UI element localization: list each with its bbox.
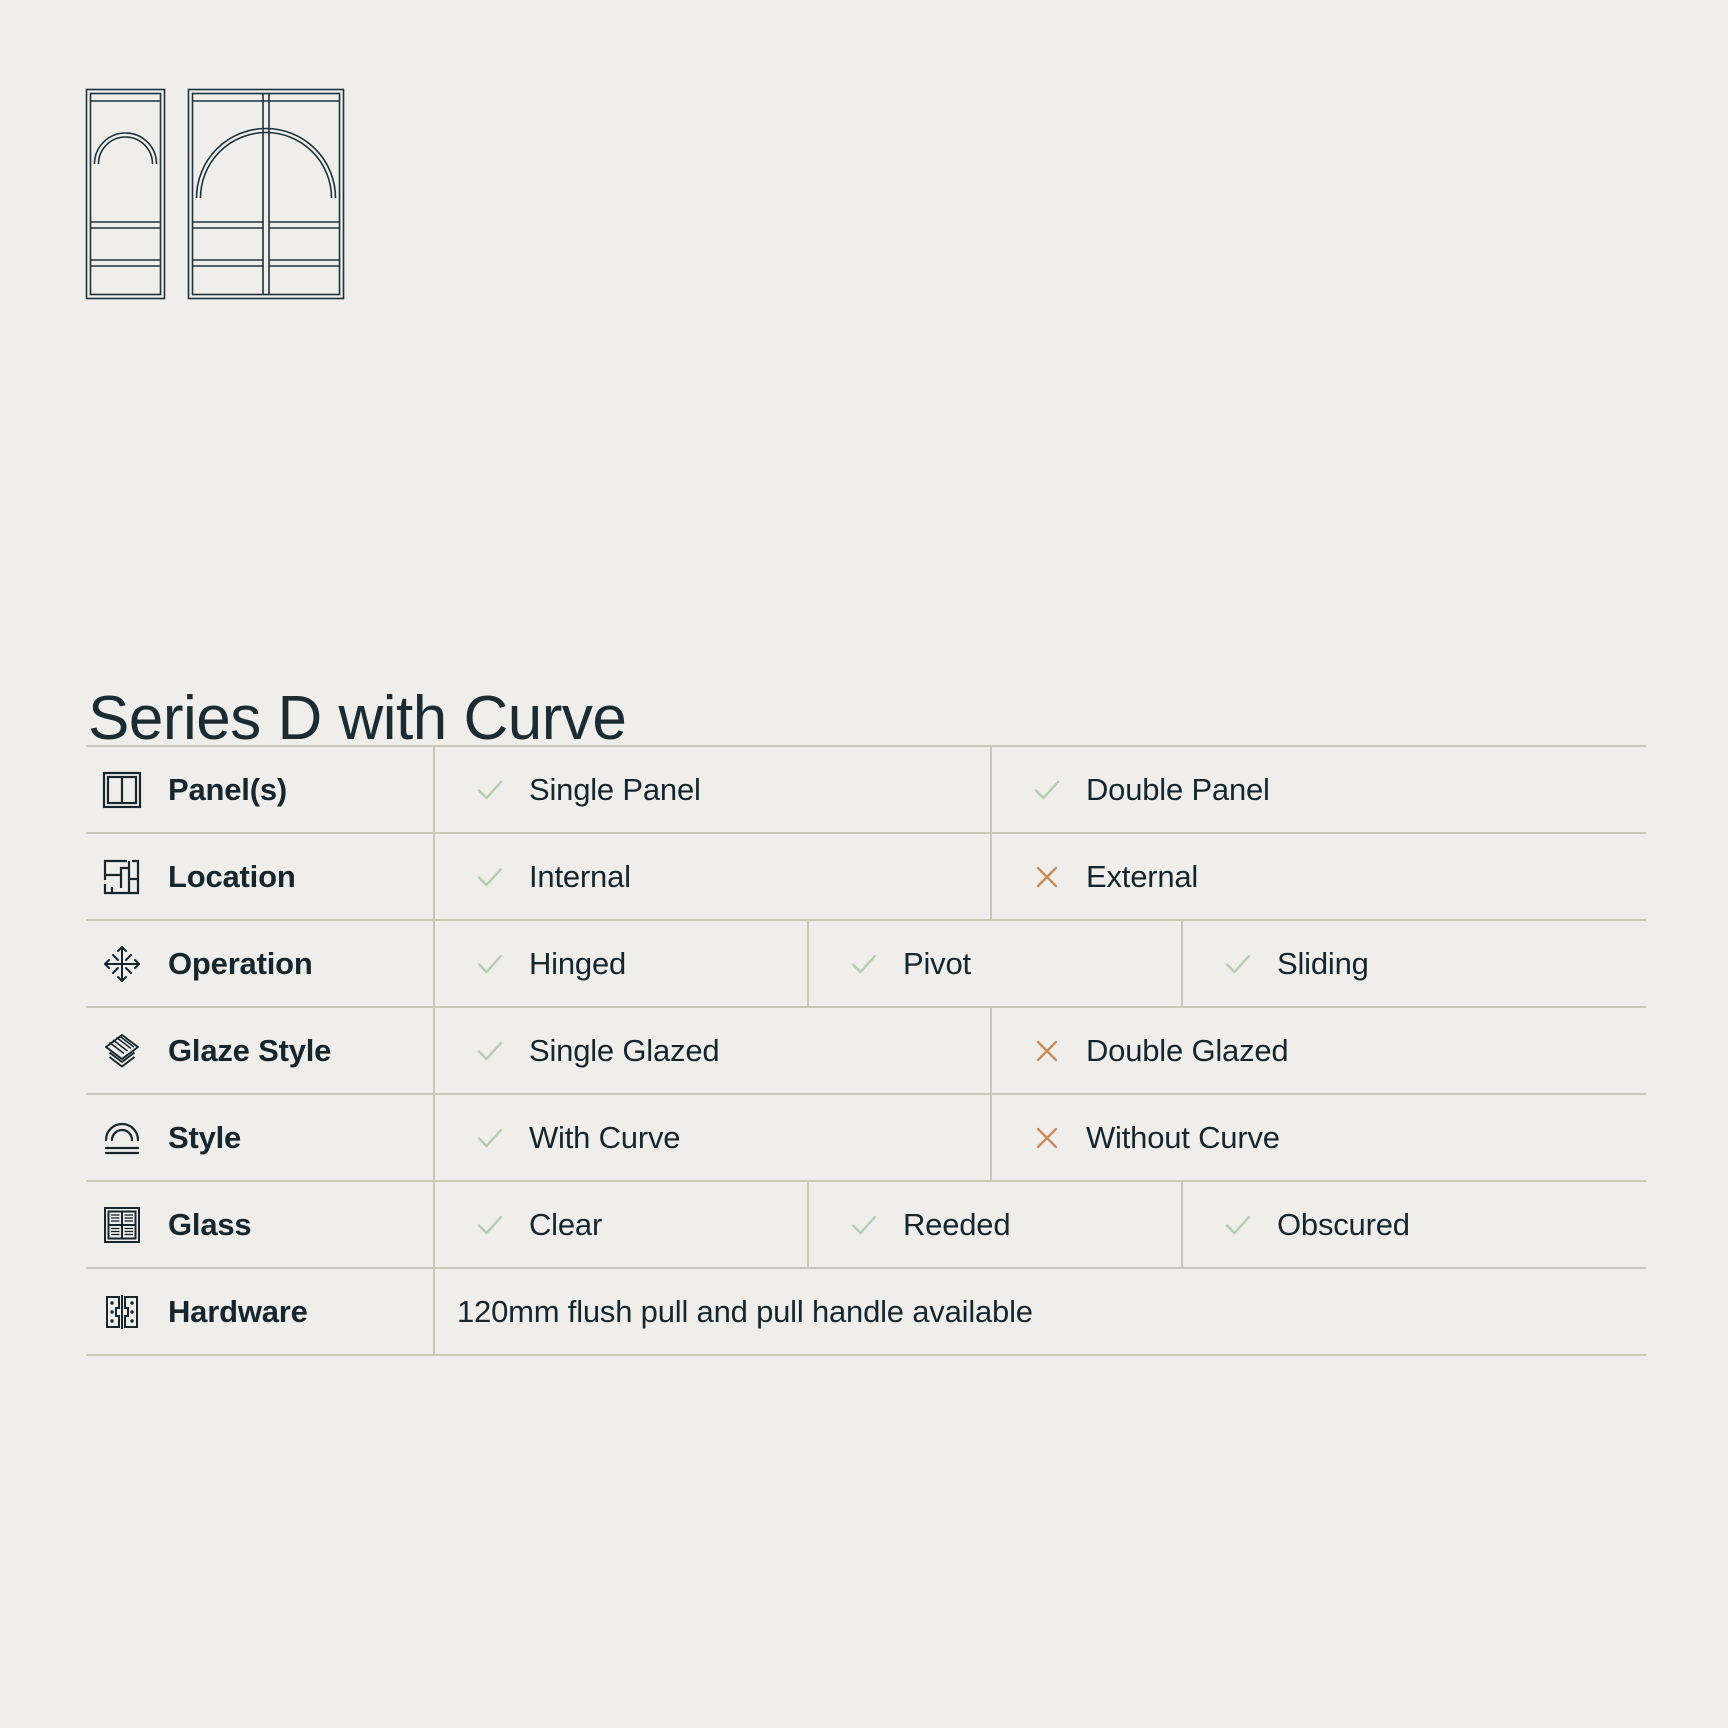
table-row: Glaze Style Single Glazed Double Glazed (86, 1008, 1646, 1095)
check-icon (1221, 1208, 1255, 1242)
option-label: Double Panel (1086, 772, 1270, 808)
option-cell[interactable]: Internal (433, 834, 990, 919)
option-label: Double Glazed (1086, 1033, 1288, 1069)
row-label-cell: Glass (86, 1182, 433, 1267)
cross-icon (1030, 1034, 1064, 1068)
row-label: Style (168, 1120, 241, 1156)
row-label-cell: Glaze Style (86, 1008, 433, 1093)
check-icon (847, 1208, 881, 1242)
option-label: Hinged (529, 946, 626, 982)
row-label: Location (168, 859, 296, 895)
option-label: Sliding (1277, 946, 1369, 982)
check-icon (1030, 773, 1064, 807)
option-cell[interactable]: Clear (433, 1182, 807, 1267)
option-cell[interactable]: Double Panel (990, 747, 1646, 832)
check-icon (473, 860, 507, 894)
option-label: Single Glazed (529, 1033, 719, 1069)
table-row: Style With Curve Without Curve (86, 1095, 1646, 1182)
row-options: Single Glazed Double Glazed (433, 1008, 1646, 1093)
table-row: Operation Hinged Pivot (86, 921, 1646, 1008)
row-label: Operation (168, 946, 313, 982)
option-cell[interactable]: External (990, 834, 1646, 919)
row-options: Clear Reeded Obscured (433, 1182, 1646, 1267)
row-options: Single Panel Double Panel (433, 747, 1646, 832)
option-label: External (1086, 859, 1198, 895)
spec-table: Panel(s) Single Panel Double Panel (86, 745, 1646, 1356)
cross-icon (1030, 1121, 1064, 1155)
option-label: Without Curve (1086, 1120, 1280, 1156)
move-arrows-icon (100, 942, 144, 986)
hardware-note: 120mm flush pull and pull handle availab… (457, 1294, 1033, 1330)
option-cell[interactable]: Sliding (1181, 921, 1646, 1006)
row-options: 120mm flush pull and pull handle availab… (433, 1269, 1646, 1354)
row-options: Internal External (433, 834, 1646, 919)
option-label: Obscured (1277, 1207, 1410, 1243)
check-icon (1221, 947, 1255, 981)
row-options: With Curve Without Curve (433, 1095, 1646, 1180)
option-label: Clear (529, 1207, 602, 1243)
row-label-cell: Location (86, 834, 433, 919)
option-cell[interactable]: Pivot (807, 921, 1181, 1006)
option-cell[interactable]: Hinged (433, 921, 807, 1006)
check-icon (473, 947, 507, 981)
option-cell[interactable]: Obscured (1181, 1182, 1646, 1267)
door-elevation-drawing (85, 88, 345, 300)
table-row: Glass Clear Reeded (86, 1182, 1646, 1269)
row-label-cell: Hardware (86, 1269, 433, 1354)
cross-icon (1030, 860, 1064, 894)
row-options: Hinged Pivot Sliding (433, 921, 1646, 1006)
check-icon (473, 773, 507, 807)
row-label: Panel(s) (168, 772, 287, 808)
table-row: Hardware 120mm flush pull and pull handl… (86, 1269, 1646, 1356)
option-label: Single Panel (529, 772, 701, 808)
table-row: Panel(s) Single Panel Double Panel (86, 747, 1646, 834)
glass-panes-icon (100, 1203, 144, 1247)
check-icon (473, 1208, 507, 1242)
check-icon (473, 1034, 507, 1068)
option-cell[interactable]: Single Glazed (433, 1008, 990, 1093)
row-label: Glass (168, 1207, 251, 1243)
row-label-cell: Panel(s) (86, 747, 433, 832)
check-icon (847, 947, 881, 981)
page-title: Series D with Curve (88, 688, 626, 750)
option-cell[interactable]: Reeded (807, 1182, 1181, 1267)
row-label: Glaze Style (168, 1033, 331, 1069)
hardware-note-cell: 120mm flush pull and pull handle availab… (433, 1269, 1646, 1354)
option-cell[interactable]: Single Panel (433, 747, 990, 832)
option-label: Reeded (903, 1207, 1010, 1243)
panel-icon (100, 768, 144, 812)
option-label: Pivot (903, 946, 971, 982)
option-cell[interactable]: Double Glazed (990, 1008, 1646, 1093)
layers-icon (100, 1029, 144, 1073)
arch-icon (100, 1116, 144, 1160)
option-cell[interactable]: With Curve (433, 1095, 990, 1180)
option-label: With Curve (529, 1120, 680, 1156)
option-cell[interactable]: Without Curve (990, 1095, 1646, 1180)
row-label: Hardware (168, 1294, 308, 1330)
row-label-cell: Style (86, 1095, 433, 1180)
row-label-cell: Operation (86, 921, 433, 1006)
hinge-icon (100, 1290, 144, 1334)
option-label: Internal (529, 859, 631, 895)
product-spec-sheet: Series D with Curve Panel(s) (0, 0, 1728, 1728)
floorplan-icon (100, 855, 144, 899)
table-row: Location Internal External (86, 834, 1646, 921)
check-icon (473, 1121, 507, 1155)
